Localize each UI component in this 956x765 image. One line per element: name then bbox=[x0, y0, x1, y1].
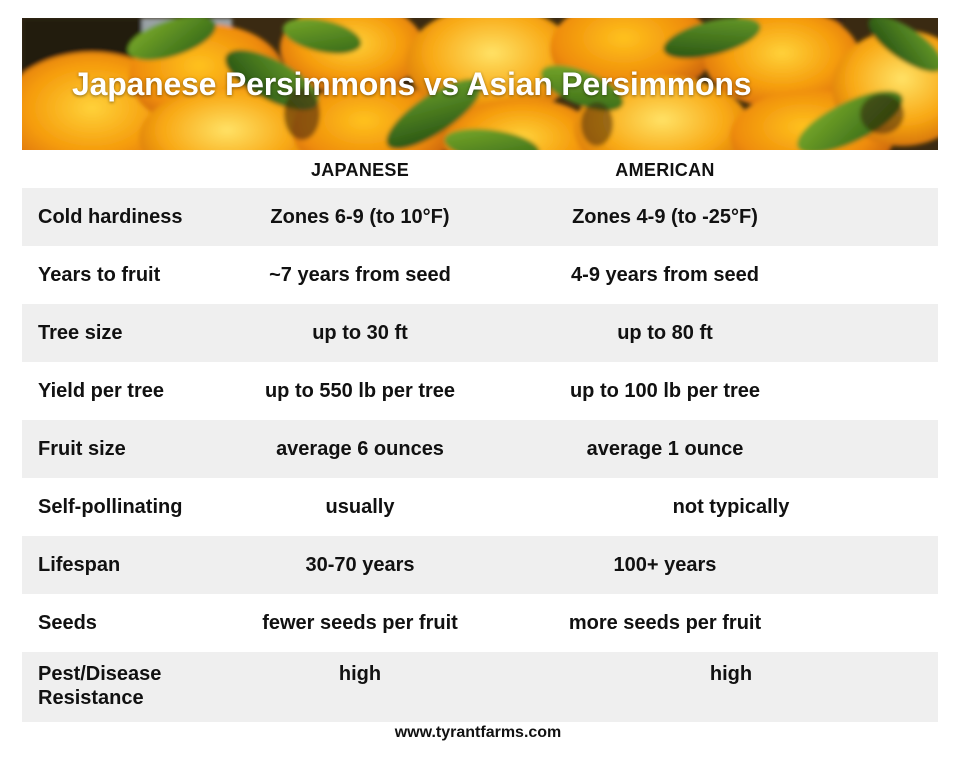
row-label: Pest/Disease Resistance bbox=[22, 652, 225, 710]
cell-american: 4-9 years from seed bbox=[495, 263, 835, 287]
table-row: Years to fruit ~7 years from seed 4-9 ye… bbox=[22, 246, 938, 304]
table-row: Lifespan 30-70 years 100+ years bbox=[22, 536, 938, 594]
cell-japanese: ~7 years from seed bbox=[225, 263, 495, 287]
table-row: Tree size up to 30 ft up to 80 ft bbox=[22, 304, 938, 362]
table-row: Yield per tree up to 550 lb per tree up … bbox=[22, 362, 938, 420]
persimmon-comparison-infographic: Japanese Persimmons vs Asian Persimmons … bbox=[0, 0, 956, 765]
cell-japanese: fewer seeds per fruit bbox=[225, 611, 495, 635]
row-label: Years to fruit bbox=[22, 263, 225, 287]
row-label: Self-pollinating bbox=[22, 495, 225, 519]
cell-japanese: up to 30 ft bbox=[225, 321, 495, 345]
cell-japanese: high bbox=[225, 652, 561, 686]
cell-american: up to 100 lb per tree bbox=[495, 379, 835, 403]
cell-japanese: usually bbox=[225, 495, 561, 519]
row-label: Tree size bbox=[22, 321, 225, 345]
row-label: Lifespan bbox=[22, 553, 225, 577]
cell-american: 100+ years bbox=[495, 553, 835, 577]
column-header-american: AMERICAN bbox=[495, 158, 835, 182]
row-label: Cold hardiness bbox=[22, 205, 225, 229]
cell-american: average 1 ounce bbox=[495, 437, 835, 461]
table-row: Fruit size average 6 ounces average 1 ou… bbox=[22, 420, 938, 478]
table-row: Seeds fewer seeds per fruit more seeds p… bbox=[22, 594, 938, 652]
cell-american: more seeds per fruit bbox=[495, 611, 835, 635]
header-banner: Japanese Persimmons vs Asian Persimmons bbox=[22, 18, 938, 150]
column-header-japanese: JAPANESE bbox=[225, 158, 495, 182]
cell-american: not typically bbox=[561, 495, 931, 519]
cell-japanese: average 6 ounces bbox=[225, 437, 495, 461]
cell-american: Zones 4-9 (to -25°F) bbox=[495, 205, 835, 229]
cell-american: up to 80 ft bbox=[495, 321, 835, 345]
row-label: Yield per tree bbox=[22, 379, 225, 403]
table-header-row: JAPANESE AMERICAN bbox=[22, 152, 938, 188]
table-row: Cold hardiness Zones 6-9 (to 10°F) Zones… bbox=[22, 188, 938, 246]
row-label: Fruit size bbox=[22, 437, 225, 461]
cell-japanese: 30-70 years bbox=[225, 553, 495, 577]
cell-japanese: Zones 6-9 (to 10°F) bbox=[225, 205, 495, 229]
comparison-table: JAPANESE AMERICAN Cold hardiness Zones 6… bbox=[22, 152, 938, 722]
cell-japanese: up to 550 lb per tree bbox=[225, 379, 495, 403]
cell-american: high bbox=[561, 652, 931, 686]
infographic-title: Japanese Persimmons vs Asian Persimmons bbox=[22, 18, 938, 150]
row-label: Seeds bbox=[22, 611, 225, 635]
table-row: Pest/Disease Resistance high high bbox=[22, 652, 938, 722]
footer-website: www.tyrantfarms.com bbox=[0, 724, 956, 742]
table-row: Self-pollinating usually not typically bbox=[22, 478, 938, 536]
